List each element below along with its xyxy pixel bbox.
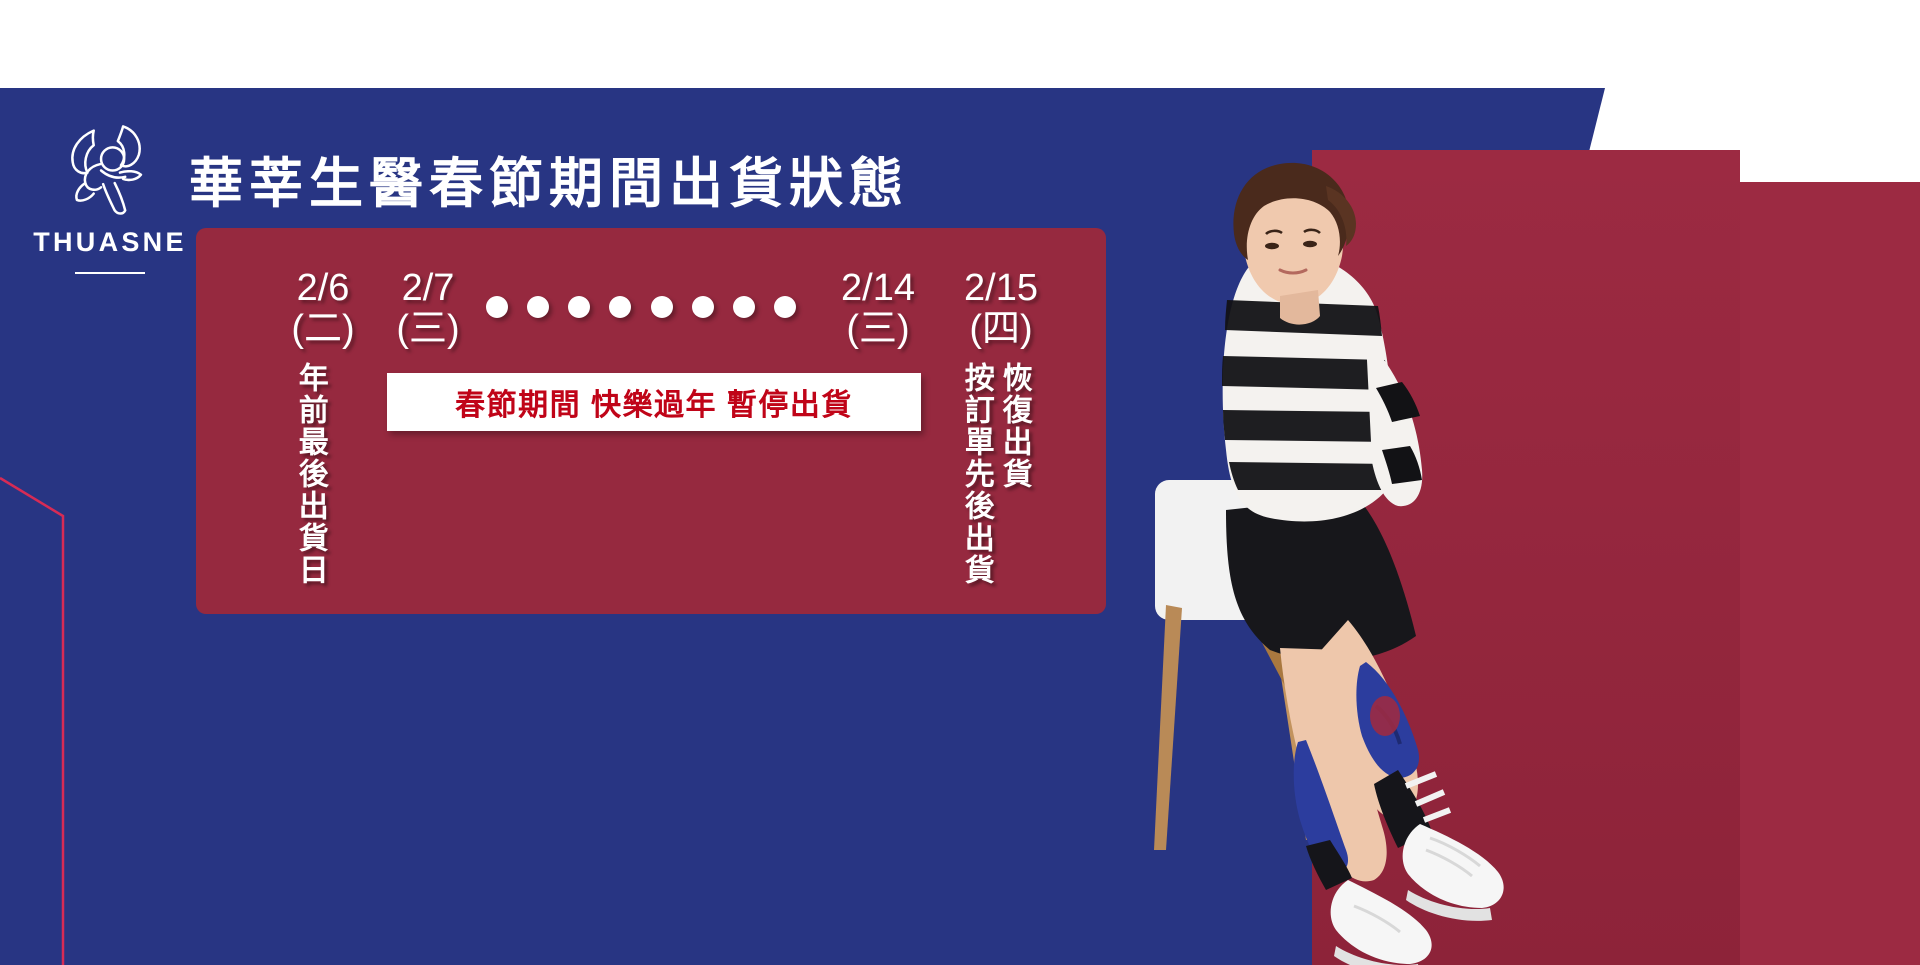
timeline-dot — [692, 296, 714, 318]
timeline-date-3: 2/15 (四) — [936, 268, 1066, 350]
timeline-date-1: 2/7 (三) — [373, 268, 483, 350]
timeline-date-2-value: 2/14 — [841, 267, 915, 309]
timeline-dot — [733, 296, 755, 318]
timeline-date-0-weekday: (二) — [268, 309, 378, 350]
logo-divider — [75, 272, 145, 274]
holiday-message-bar: 春節期間 快樂過年 暫停出貨 — [387, 373, 921, 431]
timeline-dot — [651, 296, 673, 318]
timeline-dot — [486, 296, 508, 318]
timeline-dot — [527, 296, 549, 318]
holiday-message-text: 春節期間 快樂過年 暫停出貨 — [455, 380, 853, 424]
timeline-date-3-value: 2/15 — [964, 267, 1038, 309]
timeline-dot — [609, 296, 631, 318]
shipping-timeline: 2/6 (二) 2/7 (三) 2/14 (三) — [196, 228, 1106, 614]
timeline-dot — [568, 296, 590, 318]
timeline-date-3-weekday: (四) — [936, 309, 1066, 350]
caption-resume-shipping: 恢復出貨 — [996, 362, 1031, 490]
logo-wordmark: THUASNE — [30, 227, 190, 258]
caption-last-shipping-day: 年前最後出貨日 — [292, 362, 327, 586]
timeline-date-2: 2/14 (三) — [813, 268, 943, 350]
timeline-date-0: 2/6 (二) — [268, 268, 378, 350]
timeline-date-1-value: 2/7 — [402, 267, 455, 309]
timeline-date-2-weekday: (三) — [813, 309, 943, 350]
holiday-shipping-banner: THUASNE 華莘生醫春節期間出貨狀態 2/6 (二) 2/7 (三) — [0, 0, 1920, 965]
caption-order-sequence: 按訂單先後出貨 — [958, 362, 993, 586]
thuasne-angel-logo-icon — [58, 118, 163, 223]
timeline-card: 2/6 (二) 2/7 (三) 2/14 (三) — [196, 228, 1106, 614]
timeline-date-1-weekday: (三) — [373, 309, 483, 350]
timeline-dot — [774, 296, 796, 318]
page-title: 華莘生醫春節期間出貨狀態 — [189, 156, 909, 213]
model-photo — [1130, 150, 1740, 965]
brand-logo: THUASNE — [30, 118, 190, 274]
timeline-date-0-value: 2/6 — [297, 267, 350, 309]
timeline-dots — [486, 296, 796, 318]
